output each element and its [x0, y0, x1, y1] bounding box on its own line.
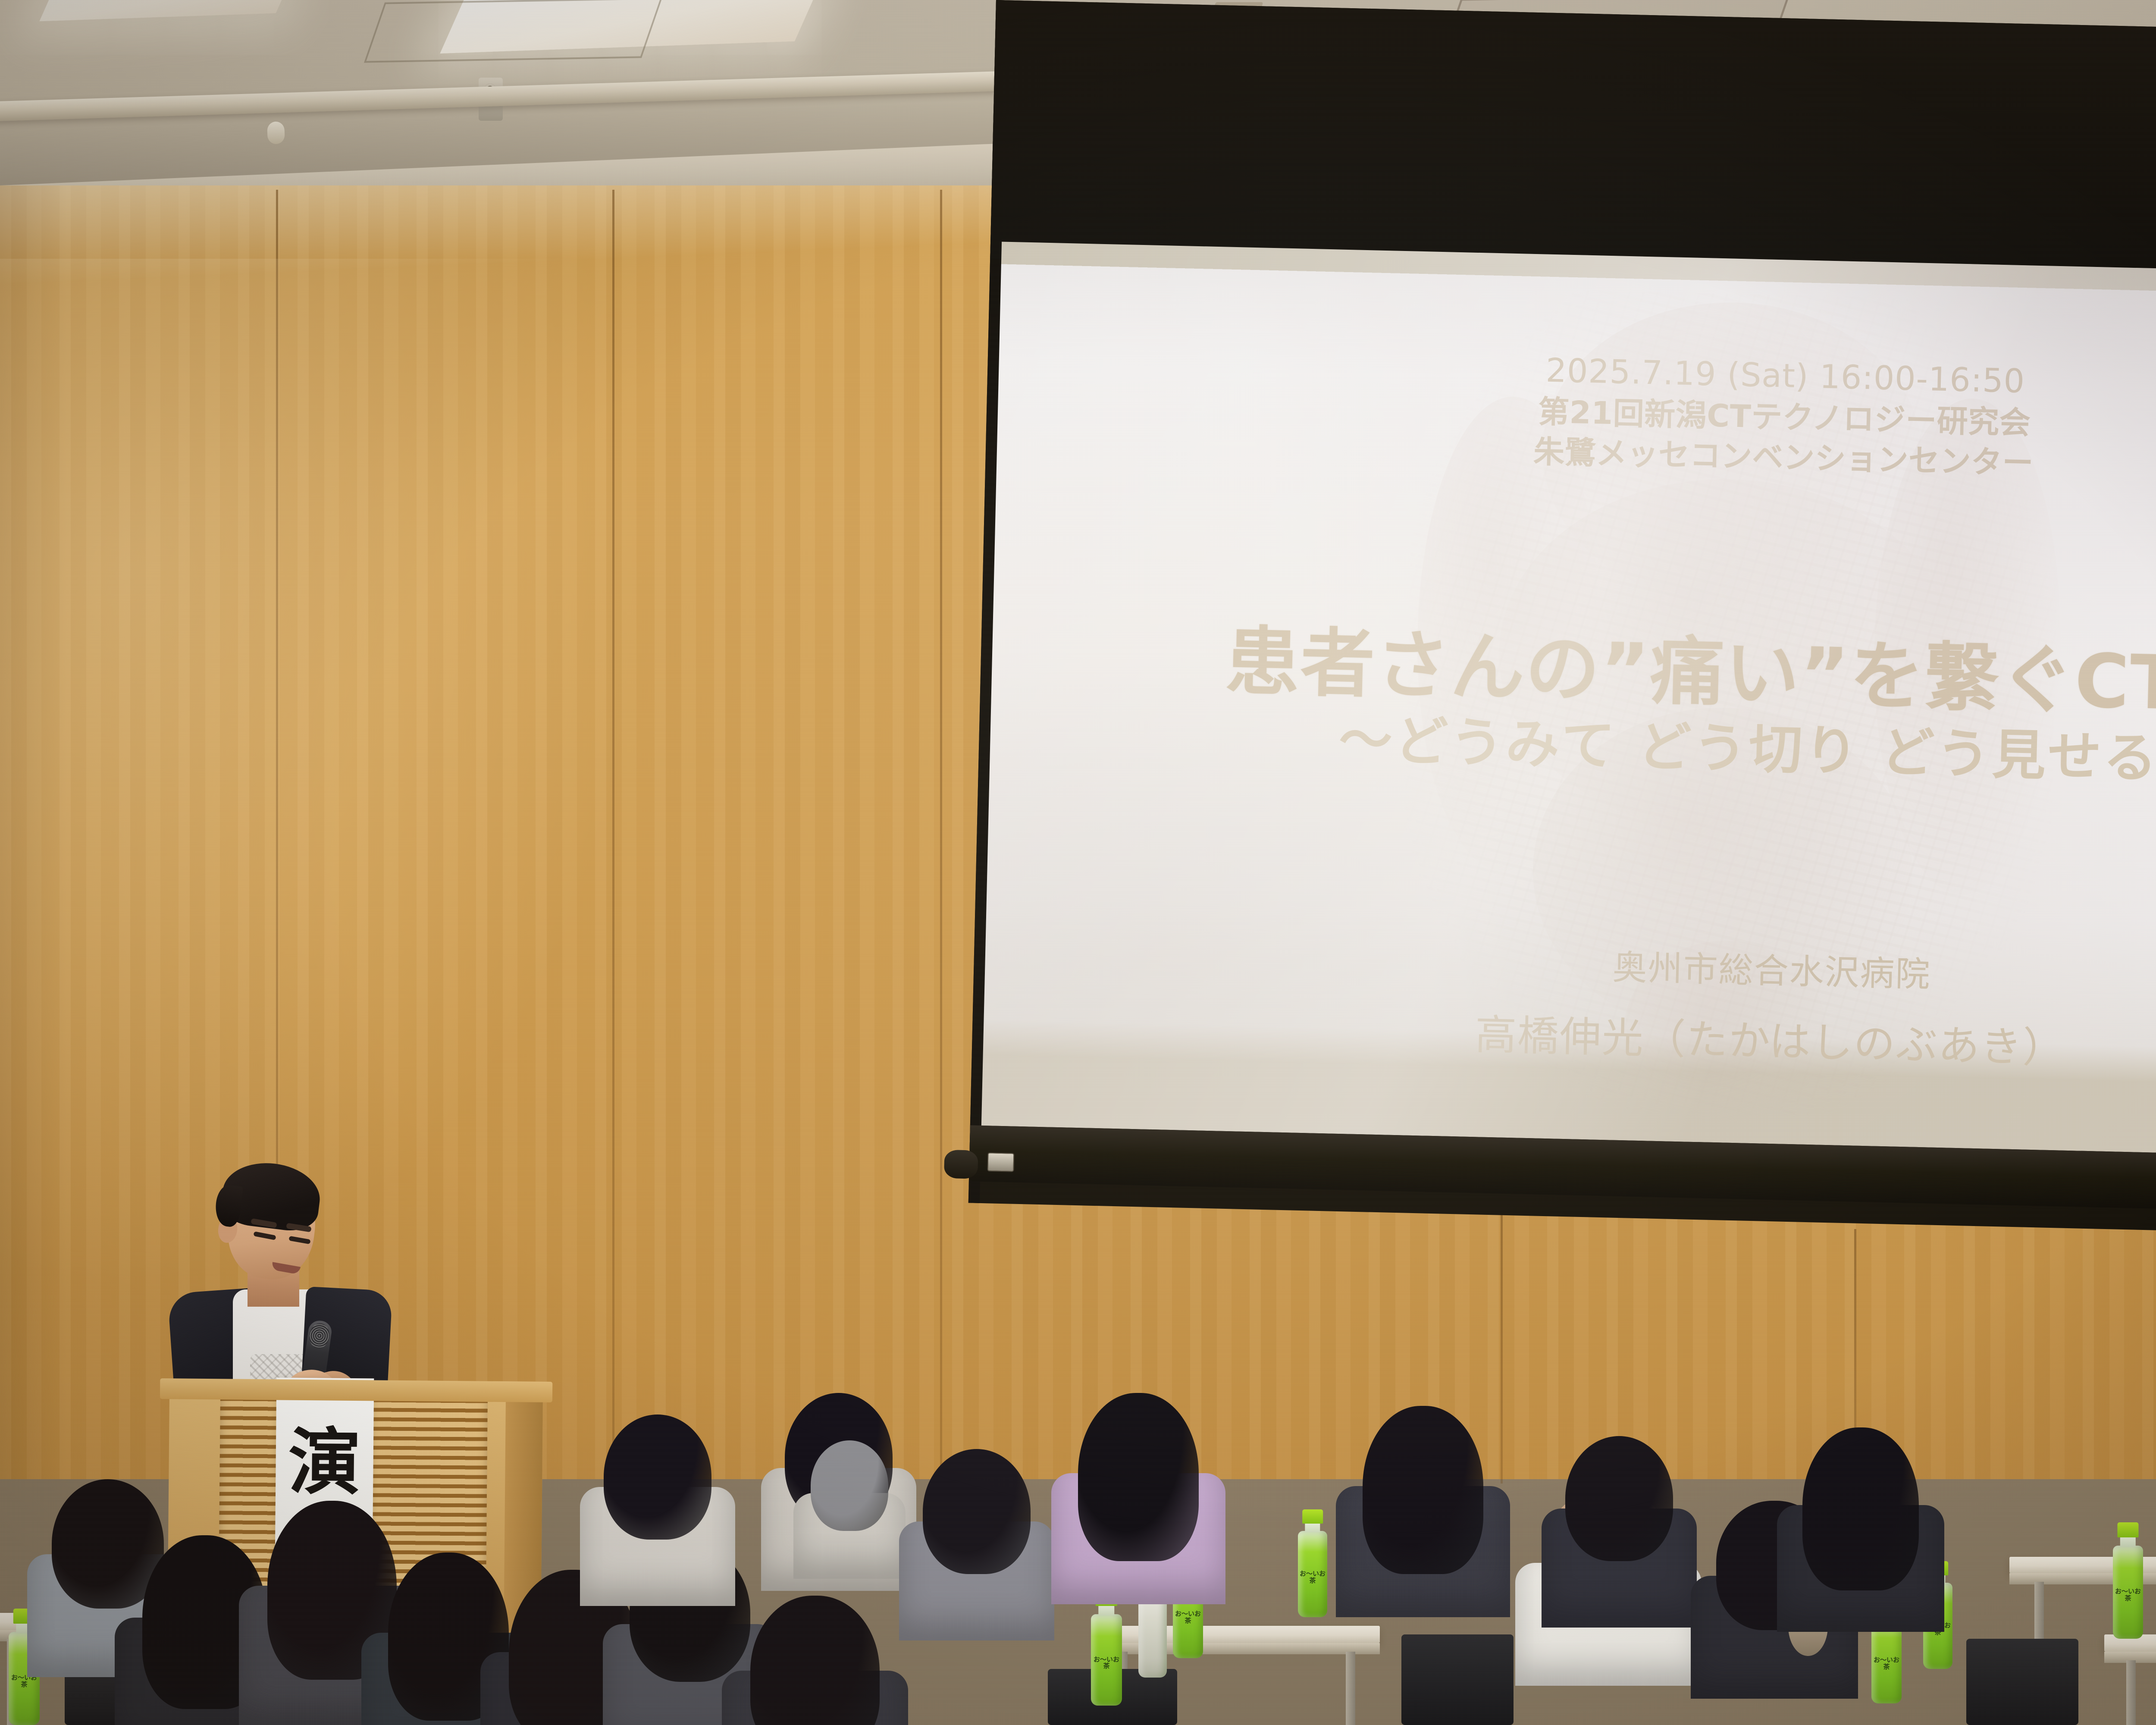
bottle-label: お～いお茶: [1091, 1656, 1122, 1670]
projection-screen-surface: 2025.7.19 (Sat) 16:00-16:50 第21回新潟CTテクノロ…: [981, 241, 2156, 1161]
screen-pull-tab[interactable]: [987, 1152, 1014, 1172]
audience-chair: [1966, 1639, 2078, 1725]
bottle-label: お～いお茶: [1298, 1571, 1327, 1584]
slide-header: 2025.7.19 (Sat) 16:00-16:50 第21回新潟CTテクノロ…: [997, 336, 2156, 496]
audience-member-head: [604, 1414, 711, 1540]
table-leg: [1346, 1652, 1355, 1725]
bottle-cap: [2118, 1522, 2139, 1537]
audience-member-head: [923, 1449, 1031, 1574]
table-leg: [2126, 1660, 2136, 1725]
bottle-body: お～いお茶: [2113, 1546, 2143, 1639]
audience-chair: [1401, 1634, 1514, 1725]
lecture-hall-photo: 2025.7.19 (Sat) 16:00-16:50 第21回新潟CTテクノロ…: [0, 0, 2156, 1725]
green-tea-bottle: お～いお茶: [1298, 1509, 1327, 1617]
audience-member-head: [750, 1596, 880, 1725]
pipe-end-cap: [267, 121, 285, 144]
audience-member-head: [1078, 1393, 1199, 1561]
podium-top-surface: [160, 1378, 552, 1402]
ceiling-access-hatch-left: [364, 0, 662, 63]
slide-speaker-name: 高橋伸光（たかはしのぶあき）: [983, 990, 2156, 1086]
bottle-neck: [1305, 1522, 1320, 1532]
podium-sign-character: 演: [276, 1426, 373, 1499]
bottle-body: お～いお茶: [1091, 1614, 1122, 1706]
green-tea-bottle: お～いお茶: [1091, 1591, 1122, 1706]
bottle-body: [1138, 1591, 1167, 1678]
projection-screen-assembly: 2025.7.19 (Sat) 16:00-16:50 第21回新潟CTテクノロ…: [967, 0, 2156, 1313]
bottle-label: お～いお茶: [1871, 1657, 1902, 1671]
bottle-body: お～いお茶: [1298, 1531, 1327, 1617]
seminar-table: [1095, 1626, 1380, 1643]
wall-panel-seam: [940, 190, 942, 1479]
audience-member-head: [1802, 1427, 1919, 1590]
bottle-cap: [1302, 1509, 1323, 1524]
audience-member-head: [811, 1440, 888, 1531]
bottle-label: お～いお茶: [2113, 1588, 2143, 1602]
audience-member-head: [1363, 1406, 1483, 1574]
audience-member-head: [1565, 1436, 1673, 1561]
green-tea-bottle: お～いお茶: [2113, 1522, 2143, 1639]
bottle-neck: [2120, 1536, 2136, 1546]
table-edge: [1095, 1643, 1380, 1654]
bottle-neck: [1098, 1605, 1114, 1615]
wall-light-pool: [0, 259, 647, 1294]
slide-content: 2025.7.19 (Sat) 16:00-16:50 第21回新潟CTテクノロ…: [981, 241, 2156, 1161]
bottle-label: お～いお茶: [1173, 1611, 1203, 1625]
ceiling-fluorescent-light-secondary: [39, 0, 297, 21]
